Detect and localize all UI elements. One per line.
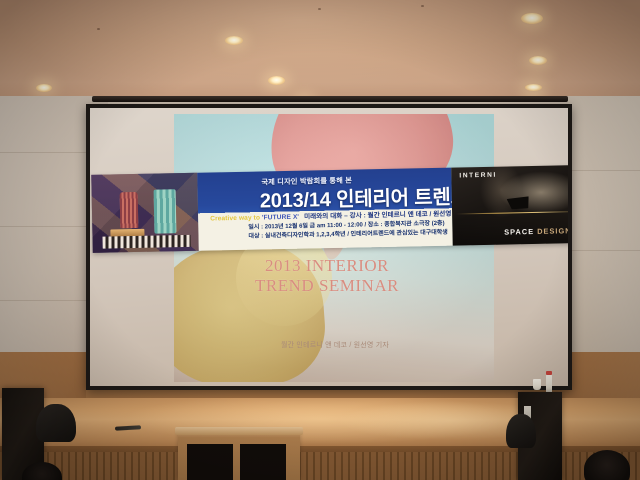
water-bottle-cap (546, 371, 552, 375)
water-bottle (546, 374, 552, 394)
ceiling-downlight (36, 84, 52, 92)
projection-screen: 2013 INTERIOR TREND SEMINAR 월간 인테르니 앤 데코… (86, 104, 572, 390)
space-word: SPACE (504, 227, 534, 237)
audience-head-right (584, 450, 630, 480)
projection-screen-roller (92, 96, 568, 102)
podium-panel-left (187, 444, 233, 480)
banner-detail-lines: 일시 : 2013년 12월 6일 금 am 11:00 - 12:00 / 장… (248, 220, 448, 243)
paper-cup (533, 379, 541, 390)
banner-subtitle-korean: 미래와의 대화 – 강사 : 월간 인테르니 앤 데코 / 원선영 기자 (304, 207, 465, 220)
banner-photo-vase-teal (154, 189, 177, 233)
ceiling-downlight (529, 56, 547, 65)
seminar-banner: 국제 디자인 박람회를 통해 본 2013/14 인테리어 트렌드 특강 Cre… (91, 165, 568, 253)
podium-panel-right (240, 444, 286, 480)
ceiling-speck (421, 5, 424, 7)
wall-seam (566, 170, 640, 171)
ceiling-speck (97, 28, 100, 30)
podium-top-surface (175, 427, 303, 435)
screen-surface: 2013 INTERIOR TREND SEMINAR 월간 인테르니 앤 데코… (90, 108, 568, 386)
overlay-title-line2: TREND SEMINAR (232, 276, 422, 296)
subtitle-futurex-text: 'FUTURE X' (262, 214, 299, 222)
banner-right-dark-photo: INTERNI SPACE DESIGN (451, 165, 568, 245)
banner-photo-vase-red (120, 192, 139, 228)
banner-main-panel: 국제 디자인 박람회를 통해 본 2013/14 인테리어 트렌드 특강 Cre… (197, 168, 453, 251)
subtitle-creative-text: Creative way to (210, 214, 260, 222)
overlay-title-line1: 2013 INTERIOR (232, 256, 422, 276)
design-word: DESIGN (537, 226, 568, 236)
lecture-hall-photo: 2013 INTERIOR TREND SEMINAR 월간 인테르니 앤 데코… (0, 0, 640, 480)
podium (178, 432, 300, 480)
ceiling-downlight (268, 76, 285, 85)
slide-credit-text: 월간 인테르니 앤 데코 / 원선영 기자 (240, 340, 430, 350)
bag-right (506, 414, 536, 448)
space-design-label: SPACE DESIGN (504, 226, 568, 236)
wall-seam (566, 250, 640, 251)
ceiling-downlight (521, 13, 543, 24)
interni-logo: INTERNI (459, 172, 497, 180)
banner-photo-table (103, 235, 191, 249)
banner-left-interior-photo (91, 173, 199, 253)
ceiling-downlight (225, 36, 243, 45)
ceiling-speck (318, 8, 321, 10)
banner-subtitle-creative: Creative way to 'FUTURE X' (210, 214, 299, 223)
bag-left (36, 404, 76, 442)
ceiling-downlight (525, 84, 542, 91)
slide-overlay-title: 2013 INTERIOR TREND SEMINAR (232, 256, 422, 296)
